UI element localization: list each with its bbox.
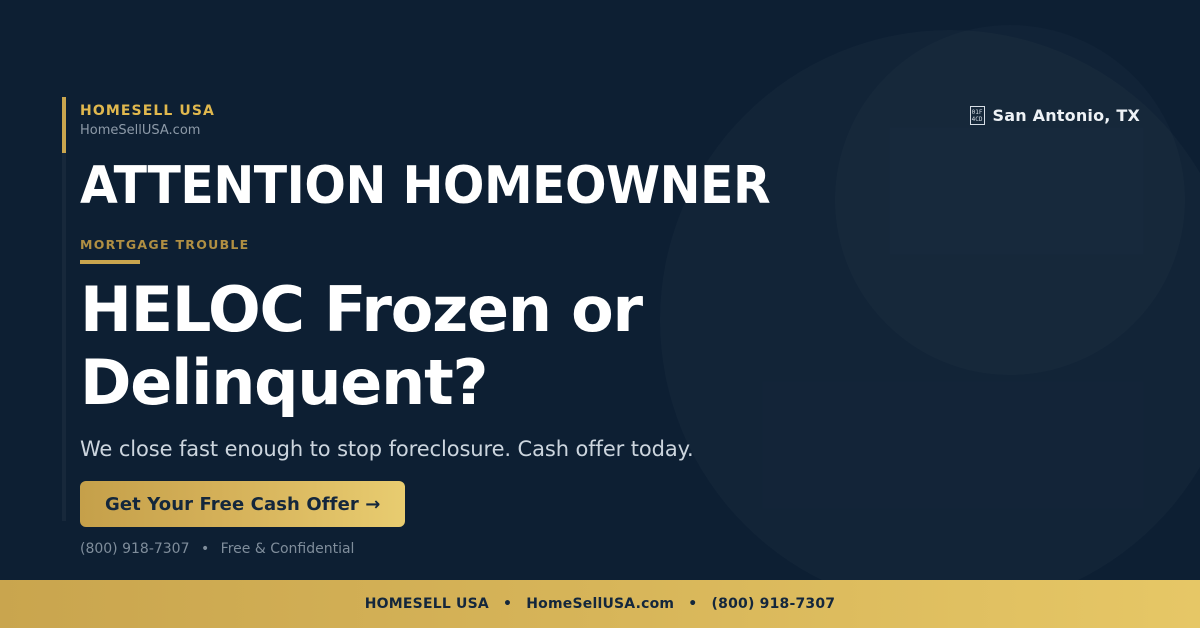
location-label: San Antonio, TX (993, 106, 1140, 125)
location-pin-icon-codepoint-bottom: 4CD (972, 116, 983, 123)
footer-phone[interactable]: (800) 918-7307 (712, 596, 836, 612)
footer-separator-2: • (679, 596, 706, 612)
brand-name: HOMESELL USA (80, 104, 215, 119)
trust-note: Free & Confidential (221, 541, 355, 557)
footer-website[interactable]: HomeSellUSA.com (526, 596, 674, 612)
eyebrow-label: MORTGAGE TROUBLE (80, 238, 250, 252)
location-pin-icon: 01F 4CD (970, 106, 985, 125)
get-free-cash-offer-button[interactable]: Get Your Free Cash Offer → (80, 481, 405, 527)
sub-headline: We close fast enough to stop foreclosure… (80, 436, 694, 463)
left-accent-rail (62, 97, 66, 521)
footer-text: HOMESELL USA • HomeSellUSA.com • (800) 9… (365, 596, 835, 612)
eyebrow-underline-rule (80, 260, 140, 264)
ad-poster: HOMESELL USA HomeSellUSA.com 01F 4CD San… (0, 0, 1200, 628)
footer-separator-1: • (494, 596, 521, 612)
trust-line: (800) 918-7307 • Free & Confidential (80, 541, 354, 558)
left-accent-rail-gold-segment (62, 97, 66, 153)
brand-website: HomeSellUSA.com (80, 124, 215, 138)
trust-phone[interactable]: (800) 918-7307 (80, 541, 190, 557)
main-headline: HELOC Frozen or Delinquent? (80, 274, 780, 419)
brand-row: HOMESELL USA HomeSellUSA.com 01F 4CD San… (80, 104, 1140, 139)
attention-headline: ATTENTION HOMEOWNER (80, 158, 770, 214)
footer-brand: HOMESELL USA (365, 596, 489, 612)
location-badge: 01F 4CD San Antonio, TX (970, 106, 1140, 125)
brand-block: HOMESELL USA HomeSellUSA.com (80, 104, 215, 139)
footer-bar: HOMESELL USA • HomeSellUSA.com • (800) 9… (0, 580, 1200, 628)
trust-separator: • (194, 541, 216, 557)
hero-content: HOMESELL USA HomeSellUSA.com 01F 4CD San… (80, 0, 1140, 580)
location-pin-icon-codepoint-top: 01F (972, 109, 983, 116)
